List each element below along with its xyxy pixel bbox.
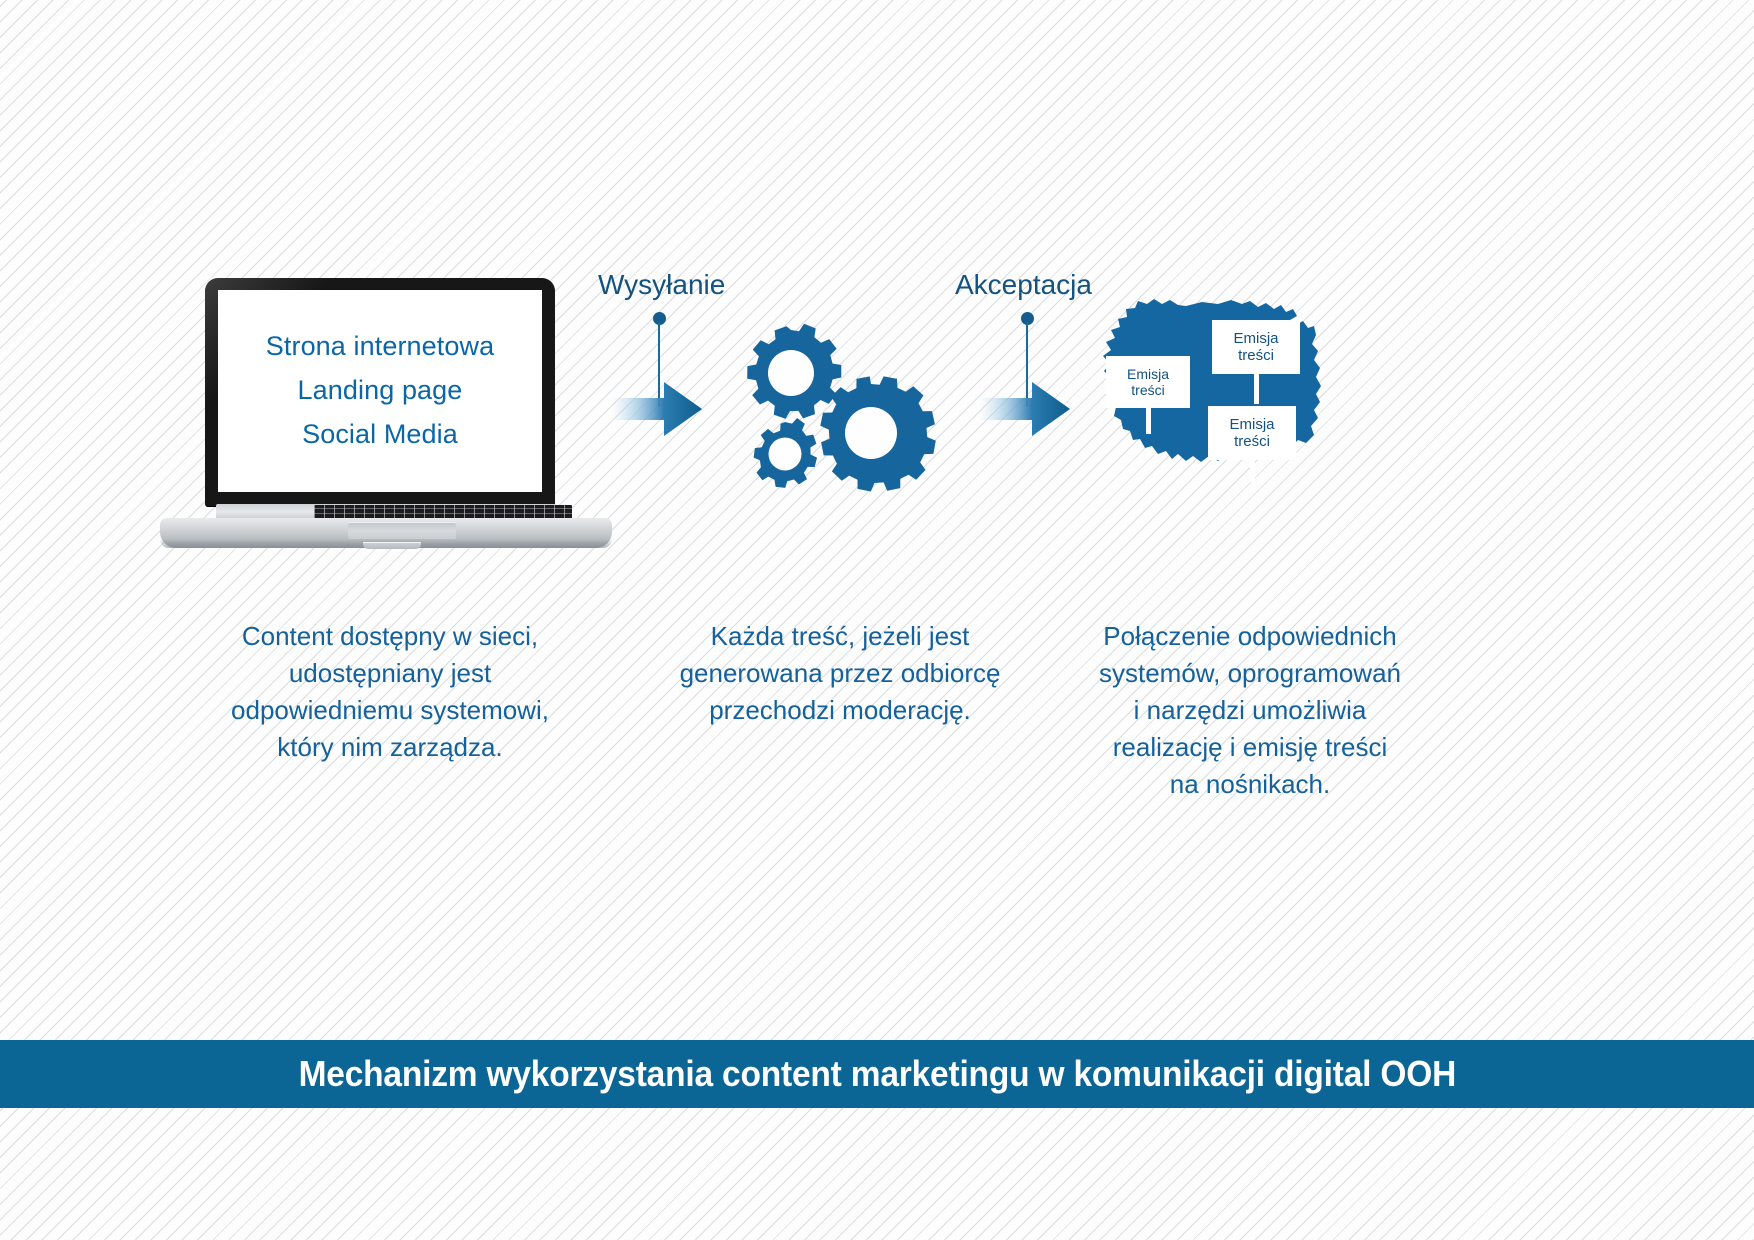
map-sign-3-text: Emisjatreści <box>1229 416 1274 451</box>
map-sign-post-2 <box>1254 374 1259 404</box>
gear-large <box>820 376 936 491</box>
laptop-illustration: Strona internetowa Landing page Social M… <box>160 278 612 568</box>
step-label-wysylanie: Wysyłanie <box>598 269 725 301</box>
map-sign-1-text: Emisjatreści <box>1127 366 1169 398</box>
laptop-screen-text: Strona internetowa Landing page Social M… <box>266 325 494 456</box>
arrow-right-icon-2 <box>980 380 1070 438</box>
step-label-akceptacja: Akceptacja <box>955 269 1092 301</box>
laptop-lid: Strona internetowa Landing page Social M… <box>205 278 555 506</box>
map-sign-post-1 <box>1146 408 1151 434</box>
laptop-keyboard <box>314 505 572 519</box>
gear-small <box>754 418 817 488</box>
laptop-base <box>160 504 612 556</box>
caption-step-2: Każda treść, jeżeli jest generowana prze… <box>640 618 1040 729</box>
title-bar-text: Mechanizm wykorzystania content marketin… <box>298 1053 1456 1095</box>
gears-icon-group <box>735 320 940 500</box>
caption-step-3: Połączenie odpowiednich systemów, oprogr… <box>1050 618 1450 803</box>
laptop-front-notch <box>363 542 421 549</box>
map-sign-2: Emisjatreści <box>1212 320 1300 374</box>
arrow-right-icon-1 <box>612 380 702 438</box>
title-bar: Mechanizm wykorzystania content marketin… <box>0 1040 1754 1108</box>
map-sign-3: Emisjatreści <box>1208 406 1296 460</box>
infographic-stage: Strona internetowa Landing page Social M… <box>0 0 1754 1240</box>
map-sign-post-3 <box>1250 460 1255 482</box>
laptop-screen: Strona internetowa Landing page Social M… <box>218 290 542 492</box>
map-sign-2-text: Emisjatreści <box>1233 330 1278 365</box>
caption-step-1: Content dostępny w sieci, udostępniany j… <box>180 618 600 766</box>
gear-medium <box>747 324 841 419</box>
laptop-trackpad <box>348 522 456 539</box>
map-sign-1: Emisjatreści <box>1106 356 1190 408</box>
poland-map-illustration: Emisjatreści Emisjatreści Emisjatreści <box>1090 298 1330 503</box>
